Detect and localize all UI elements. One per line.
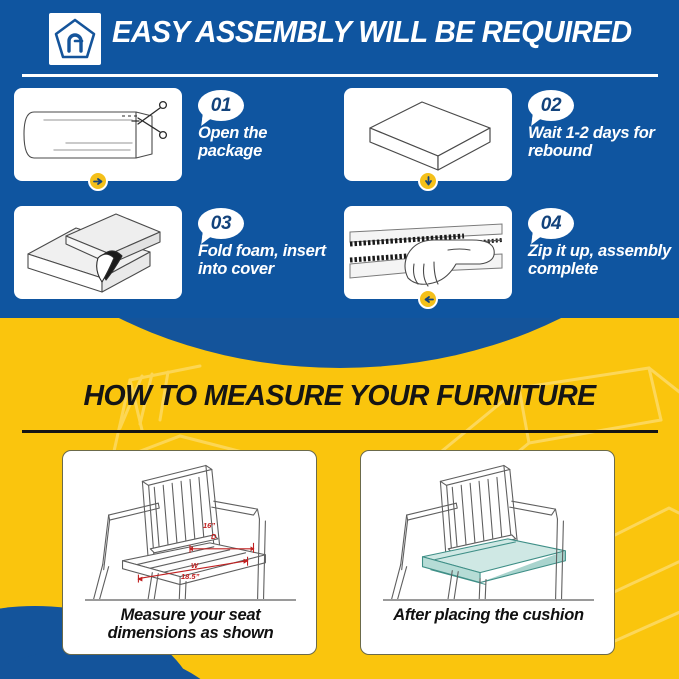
step-01-number-bubble: 01 <box>198 90 244 123</box>
measure-section-title: HOW TO MEASURE YOUR FURNITURE <box>0 380 679 413</box>
step-04-label: Zip it up, assembly complete <box>528 243 678 279</box>
step-02-label: Wait 1-2 days for rebound <box>528 125 678 161</box>
rolled-package-with-scissors-illustration <box>14 88 182 181</box>
brand-logo <box>49 13 101 65</box>
measure-card-caption: After placing the cushion <box>369 606 608 624</box>
step-01-arrow-badge <box>88 171 108 191</box>
step-03-label: Fold foam, insert into cover <box>198 243 348 279</box>
step-04-number-bubble: 04 <box>528 208 574 241</box>
step-04-text: 04 Zip it up, assembly complete <box>528 208 678 279</box>
step-04-arrow-badge <box>418 289 438 309</box>
step-02-number: 02 <box>528 90 574 121</box>
measure-section: HOW TO MEASURE YOUR FURNITURE <box>0 318 679 679</box>
step-04: 04 Zip it up, assembly complete <box>344 206 674 310</box>
foam-inserted-into-cover-illustration <box>14 206 182 299</box>
step-02-card[interactable] <box>344 88 512 181</box>
measure-card-cushion[interactable]: After placing the cushion <box>360 450 615 655</box>
dimension-width-letter: W <box>191 561 198 570</box>
step-01-text: 01 Open the package <box>198 90 348 161</box>
step-03: 03 Fold foam, insert into cover <box>14 206 344 310</box>
infographic-page: HOW TO MEASURE YOUR FURNITURE <box>0 0 679 679</box>
step-02-number-bubble: 02 <box>528 90 574 123</box>
chair-with-teal-cushion-illustration <box>361 453 614 599</box>
step-03-card[interactable] <box>14 206 182 299</box>
arrow-left-icon <box>423 294 434 305</box>
step-02-text: 02 Wait 1-2 days for rebound <box>528 90 678 161</box>
measure-title-underline <box>22 430 658 433</box>
flat-foam-slab-illustration <box>344 88 512 181</box>
step-01-number: 01 <box>198 90 244 121</box>
blue-curve-divider <box>0 318 679 368</box>
step-04-number: 04 <box>528 208 574 239</box>
step-01-card[interactable] <box>14 88 182 181</box>
step-01-label: Open the package <box>198 125 348 161</box>
measure-card-divider <box>383 599 594 601</box>
step-03-number: 03 <box>198 208 244 239</box>
measure-cards-row: 16” D W 18.5” Measure your seat dimensio… <box>0 450 679 670</box>
house-pentagon-logo-icon <box>49 13 101 65</box>
step-01: 01 Open the package <box>14 88 344 192</box>
step-03-text: 03 Fold foam, insert into cover <box>198 208 348 279</box>
measure-card-caption: Measure your seat dimensions as shown <box>71 606 310 643</box>
header-title: EASY ASSEMBLY WILL BE REQUIRED <box>112 15 632 50</box>
assembly-steps-grid: 01 Open the package <box>0 88 679 313</box>
step-04-card[interactable] <box>344 206 512 299</box>
arrow-right-icon <box>93 176 104 187</box>
step-02-arrow-badge <box>418 171 438 191</box>
header-banner: EASY ASSEMBLY WILL BE REQUIRED <box>0 0 679 82</box>
arrow-down-icon <box>423 176 434 187</box>
measure-card-divider <box>85 599 296 601</box>
header-underline <box>22 74 658 77</box>
dimension-depth-value: 16” <box>203 521 215 530</box>
dimension-width-value: 18.5” <box>181 572 199 581</box>
step-02: 02 Wait 1-2 days for rebound <box>344 88 674 192</box>
measure-card-dimensions[interactable]: 16” D W 18.5” Measure your seat dimensio… <box>62 450 317 655</box>
hand-zipping-zipper-illustration <box>344 206 512 299</box>
dimension-depth-letter: D <box>211 532 216 541</box>
step-03-number-bubble: 03 <box>198 208 244 241</box>
